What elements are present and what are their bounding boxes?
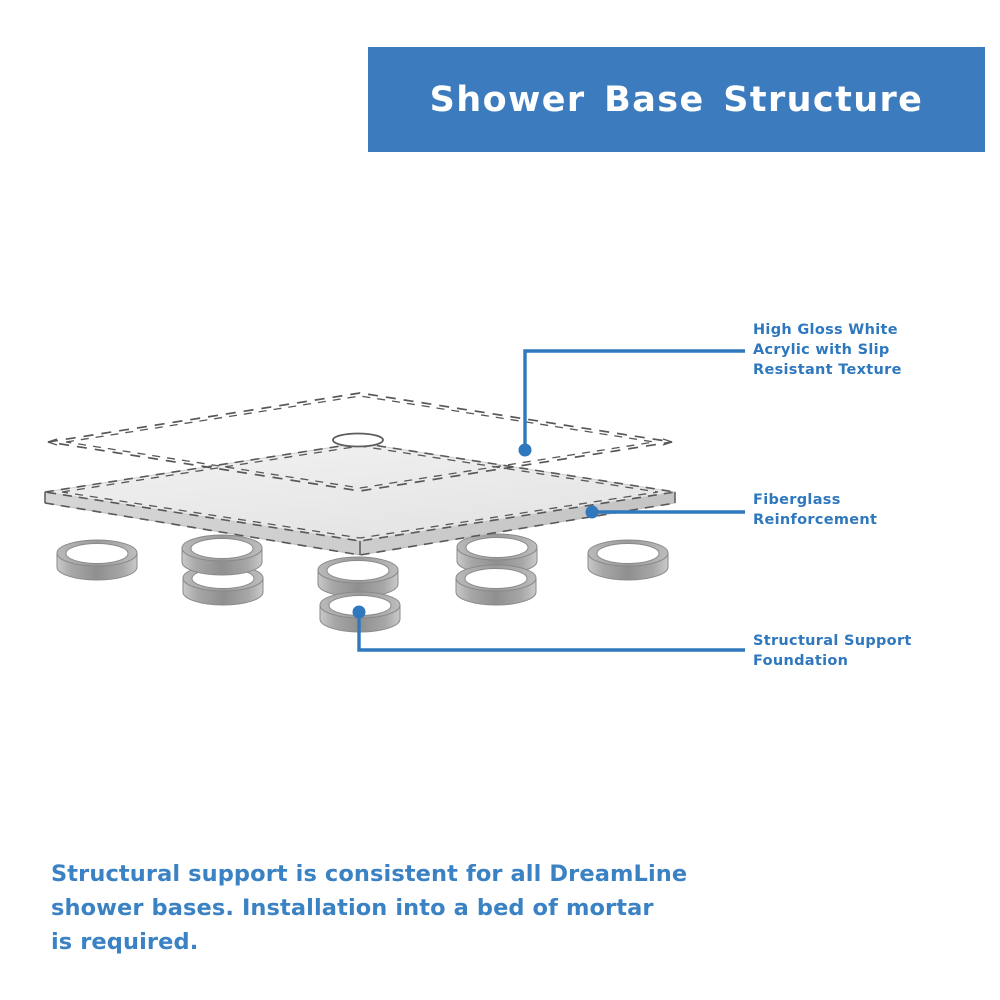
callout-label-acrylic-line-1: High Gloss White (753, 320, 953, 340)
bottom-caption-line-2: shower bases. Installation into a bed of… (51, 891, 691, 925)
callout-label-acrylic-line-3: Resistant Texture (753, 360, 953, 380)
support-ring (57, 540, 137, 580)
callout-label-fiberglass-line-2: Reinforcement (753, 510, 953, 530)
callout-label-acrylic: High Gloss White Acrylic with Slip Resis… (753, 320, 953, 380)
callout-label-foundation-line-2: Foundation (753, 651, 953, 671)
bottom-caption-line-1: Structural support is consistent for all… (51, 857, 691, 891)
callout-dot-acrylic (519, 444, 532, 457)
callout-label-acrylic-line-2: Acrylic with Slip (753, 340, 953, 360)
drain-opening (333, 434, 383, 447)
support-ring (588, 540, 668, 580)
callout-label-foundation: Structural Support Foundation (753, 631, 953, 671)
support-ring (182, 535, 262, 575)
fiberglass-slab (45, 443, 675, 555)
support-ring (318, 557, 398, 597)
callout-label-fiberglass: Fiberglass Reinforcement (753, 490, 953, 530)
callout-label-fiberglass-line-1: Fiberglass (753, 490, 953, 510)
callout-leader-foundation (353, 606, 746, 651)
bottom-caption: Structural support is consistent for all… (51, 857, 691, 959)
callout-label-foundation-line-1: Structural Support (753, 631, 953, 651)
callout-dot-foundation (353, 606, 366, 619)
bottom-caption-line-3: is required. (51, 925, 691, 959)
support-ring (456, 565, 536, 605)
callout-dot-fiberglass (586, 506, 599, 519)
callout-leader-acrylic (519, 351, 746, 457)
